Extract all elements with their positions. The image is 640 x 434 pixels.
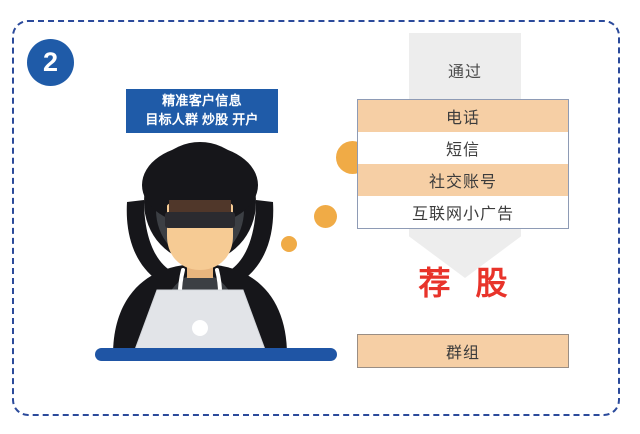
channel-list-panel: 电话 短信 社交账号 互联网小广告 [357,99,569,229]
flow-dot-small [281,236,297,252]
channel-row-social-account: 社交账号 [358,164,568,196]
infographic-canvas: 2 精准客户信息 目标人群 炒股 开户 [0,0,640,434]
step-number-badge: 2 [27,39,74,86]
hacker-at-laptop-illustration [95,140,305,355]
channel-row-sms: 短信 [358,132,568,164]
channel-flow-header: 通过 [409,58,521,82]
group-box: 群组 [357,334,569,368]
caption-line-2: 目标人群 炒股 开户 [145,111,258,130]
flow-dot-medium [314,205,337,228]
channel-row-internet-ads: 互联网小广告 [358,196,568,228]
channel-row-phone: 电话 [358,100,568,132]
caption-line-1: 精准客户信息 [162,92,242,111]
target-customer-caption-box: 精准客户信息 目标人群 炒股 开户 [126,89,278,133]
desk-bar [95,348,337,361]
stock-recommendation-headline: 荐 股 [357,266,569,301]
